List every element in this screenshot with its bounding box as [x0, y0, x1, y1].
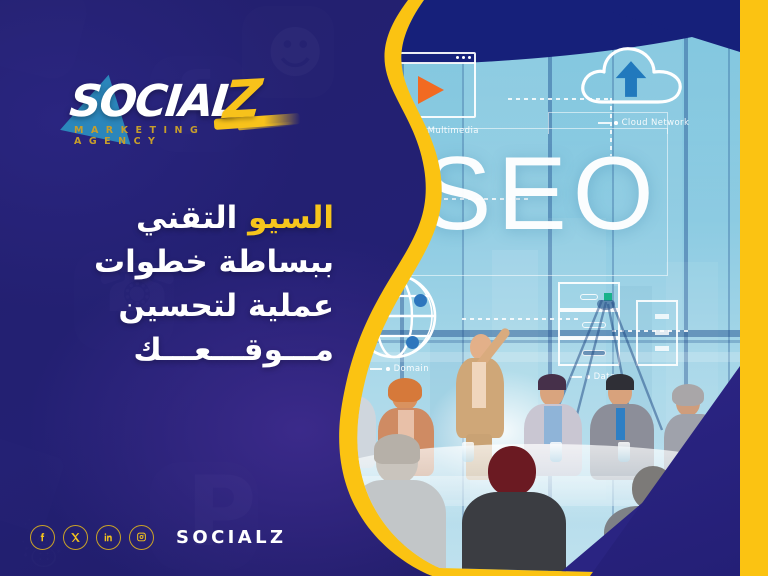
window-dot: [462, 56, 465, 59]
person-hair: [388, 378, 422, 402]
headline-line-4: مـــوقـــعـــك: [8, 328, 334, 372]
left-content-column: SOCIAL Z MARKETING AGENCY السيو التقني ب…: [0, 0, 350, 576]
window-dot: [456, 56, 459, 59]
person-tie: [616, 408, 625, 440]
hud-label-cloud-network: Cloud Network: [598, 118, 689, 128]
person-torso: [462, 492, 566, 576]
headline-line-2: ببساطة خطوات: [8, 240, 334, 284]
linkedin-glyph-icon: [102, 531, 115, 544]
logo-z-letter: Z: [221, 69, 264, 131]
poster-canvas: ☻ f ☎ P ☃: [0, 0, 768, 576]
headline-line-1: السيو التقني: [8, 196, 334, 240]
facebook-glyph-icon: [36, 531, 49, 544]
seo-wordmark: SEO: [422, 142, 660, 246]
person-foreground-center: [462, 446, 570, 576]
cloud-network-icon: [578, 44, 686, 106]
person-shirt: [544, 406, 562, 444]
person-hair: [606, 374, 634, 390]
hud-label-text: Cloud Network: [622, 118, 690, 128]
logo-tagline: MARKETING AGENCY: [74, 125, 302, 147]
linkedin-icon[interactable]: [96, 525, 121, 550]
water-glass: [618, 442, 630, 462]
instagram-icon[interactable]: [129, 525, 154, 550]
x-twitter-icon[interactable]: [63, 525, 88, 550]
person-hair: [538, 374, 566, 390]
window-dot: [468, 56, 471, 59]
x-glyph-icon: [69, 531, 82, 544]
bullet-dot: [614, 121, 618, 125]
person-shirt: [472, 362, 486, 408]
social-links-row: SOCIALZ: [30, 525, 286, 550]
instagram-glyph-icon: [135, 531, 148, 544]
headline-line-1-rest: التقني: [136, 200, 237, 236]
person-hair: [374, 434, 420, 464]
footer-brand-name: SOCIALZ: [176, 527, 286, 548]
yellow-right-edge-band: [740, 0, 768, 576]
upload-arrow-icon: [614, 58, 648, 100]
window-titlebar: [396, 52, 476, 64]
logo-wordmark: SOCIAL: [67, 76, 240, 127]
headline-block: السيو التقني ببساطة خطوات عملية لتحسين م…: [8, 196, 334, 372]
person-hair: [672, 384, 704, 406]
headline-line-3: عملية لتحسين: [8, 284, 334, 328]
person-head: [488, 446, 536, 496]
globe-node-dot: [414, 294, 427, 307]
socialz-logo[interactable]: SOCIAL Z MARKETING AGENCY: [62, 66, 302, 148]
headline-accent-word: السيو: [248, 200, 334, 236]
hud-label-text: Multimedia: [428, 126, 479, 136]
play-button-icon: [418, 76, 444, 104]
facebook-icon[interactable]: [30, 525, 55, 550]
